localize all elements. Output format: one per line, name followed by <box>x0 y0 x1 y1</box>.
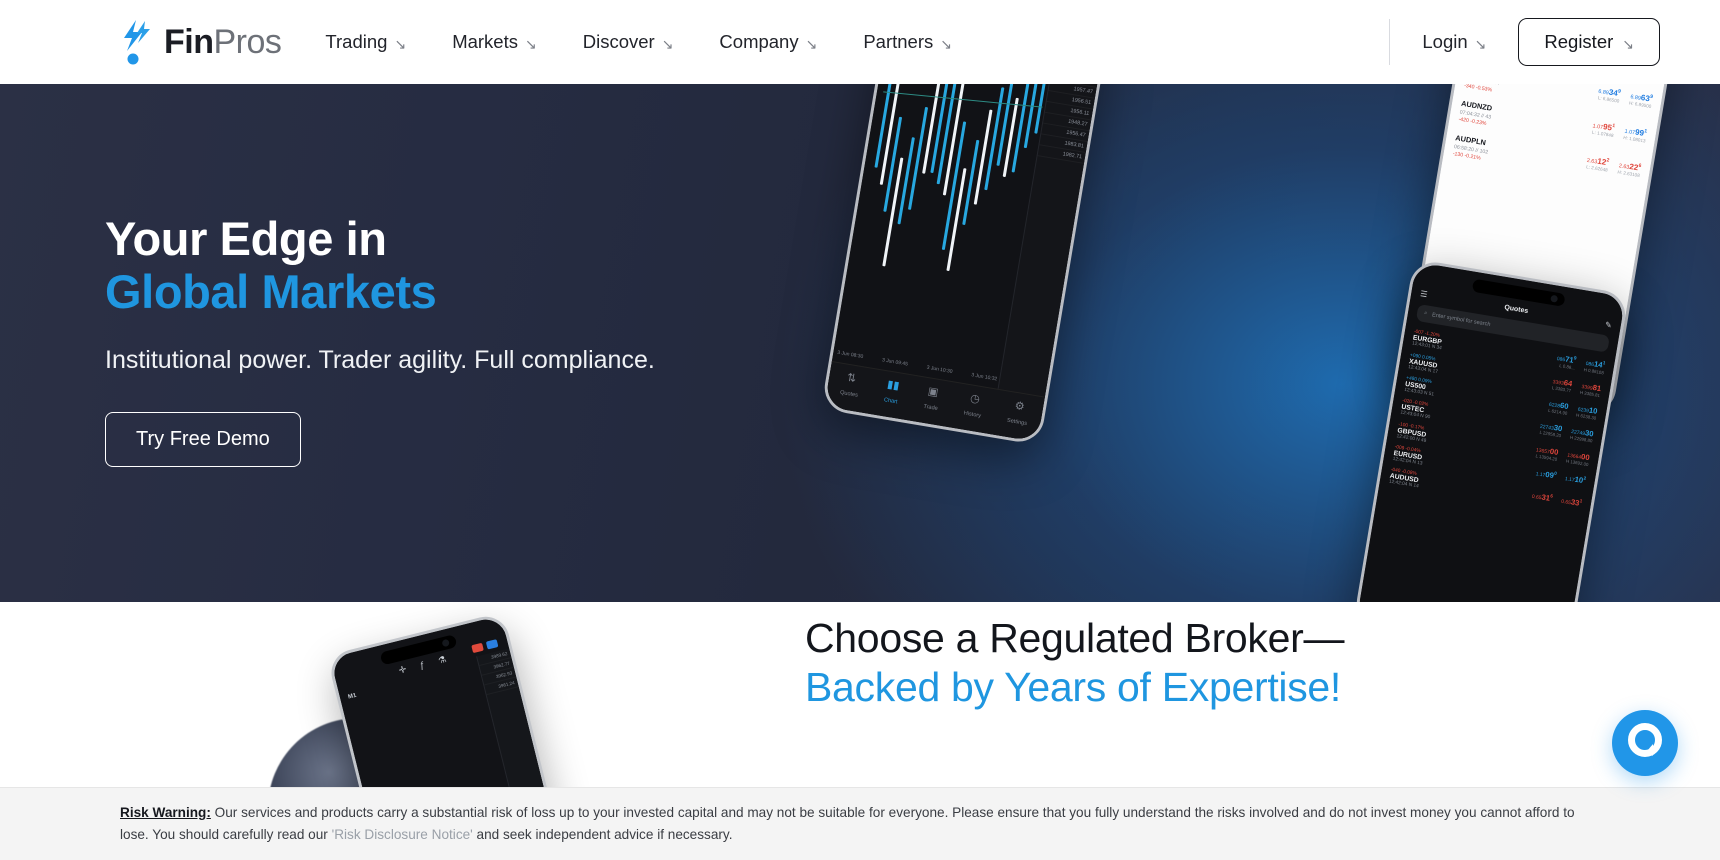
header-actions: Login ↘ Register ↘ <box>1389 18 1690 66</box>
quote-bid: 2.63122 L: 2.62648 <box>1585 155 1609 173</box>
quote-ask: 1.17102 <box>1564 474 1586 486</box>
tab-label: Chart <box>883 397 897 405</box>
hero-headline-line2: Global Markets <box>105 265 825 318</box>
quotes-icon: ⇅ <box>841 367 862 391</box>
chevron-down-icon: ↘ <box>806 37 818 51</box>
quote-prices: 622860 L 6214.90 623910 H 6238.30 <box>1548 400 1598 421</box>
nav-item-company[interactable]: Company ↘ <box>719 31 817 53</box>
quote-bid: 6.89349 L: 6.86500 <box>1597 87 1621 105</box>
header-divider <box>1389 19 1390 65</box>
site-logo[interactable]: FinPros <box>120 18 281 66</box>
price-pip: 1 <box>1612 123 1616 129</box>
register-label: Register <box>1544 31 1613 53</box>
quote-price: 0.65331 <box>1561 497 1583 509</box>
risk-warning-tail: and seek independent advice if necessary… <box>473 827 733 842</box>
settings-icon: ⚙ <box>1008 395 1031 419</box>
hero-headline-line1: Your Edge in <box>105 212 387 265</box>
quote-prices: 086719 L 0.86... 086141 H 0.86108 <box>1555 354 1605 375</box>
quote-bid: 0.65316 <box>1531 492 1553 504</box>
quote-ask: 1366400 H 13692.00 <box>1566 450 1591 467</box>
quote-ask: 339981 H 3385.81 <box>1580 381 1602 397</box>
nav-item-trading[interactable]: Trading ↘ <box>325 31 406 53</box>
tab-label: Trade <box>923 403 938 411</box>
price-pip: 1 <box>1644 128 1648 134</box>
search-icon: ⌕ <box>1424 310 1428 317</box>
tab-quotes[interactable]: ⇅Quotes <box>839 367 862 401</box>
timeframe-label: M1 <box>348 693 358 701</box>
section2-copy: Choose a Regulated Broker—Backed by Year… <box>805 614 1365 712</box>
function-icon[interactable]: ƒ <box>419 659 426 670</box>
risk-warning-label: Risk Warning: <box>120 805 211 820</box>
quote-info: +090 0.05% XAUUSD 12:43:04 N 17 <box>1408 353 1441 375</box>
price-pip: 9 <box>1618 89 1622 95</box>
quote-price: 0.65316 <box>1531 492 1553 504</box>
quote-ask: 623910 H 6238.30 <box>1576 405 1598 421</box>
quote-prices: 2.63122 L: 2.62648 2.63226 H: 2.63108 <box>1585 155 1641 178</box>
history-icon: ◷ <box>965 388 986 411</box>
phone-mockup-chart: 1983.87 1981.72 1980.37 1959.63 1958.47 … <box>821 84 1109 445</box>
price-pip: 9 <box>1574 356 1577 361</box>
crosshair-icon[interactable]: ✛ <box>398 663 408 675</box>
lightning-bolt-icon <box>120 18 154 66</box>
chevron-down-icon: ↘ <box>394 37 406 51</box>
price-pip: 2 <box>1583 476 1586 481</box>
menu-icon[interactable]: ☰ <box>1420 289 1429 299</box>
quote-info: -040 -0.08% AUDUSD 12:42:04 N 14 <box>1388 468 1421 490</box>
price-pip: 1 <box>1602 360 1605 365</box>
quote-prices: 1.07951 L: 1.07848 1.07991 H: 1.08013 <box>1591 121 1647 144</box>
login-label: Login <box>1422 31 1467 53</box>
quote-bid: 1.17090 <box>1535 469 1557 481</box>
chevron-down-icon: ↘ <box>1622 37 1634 51</box>
register-button[interactable]: Register ↘ <box>1518 18 1660 66</box>
quote-info: AUDNZD 07:04:32 // 43 -420 -0.23% <box>1458 99 1494 130</box>
quote-bid: 1365700 L 13594.20 <box>1535 445 1559 462</box>
quote-ask: 086141 H 0.86108 <box>1583 358 1605 375</box>
tab-label: History <box>963 410 981 419</box>
trade-icon: ▣ <box>924 381 942 404</box>
quote-bid: 2274330 L 22958.20 <box>1539 422 1563 439</box>
hero-subheadline: Institutional power. Trader agility. Ful… <box>105 344 825 378</box>
chart-icon: ▮▮ <box>885 374 902 397</box>
search-placeholder: Enter symbol for search <box>1432 312 1491 328</box>
nav-label: Markets <box>452 31 518 53</box>
quote-info: -009 -0.04% EURUSD 12:42:04 N 13 <box>1392 445 1425 467</box>
site-header: FinPros Trading ↘ Markets ↘ Discover ↘ C… <box>0 0 1720 84</box>
quote-ask: 1.07991 H: 1.08013 <box>1623 126 1647 144</box>
try-free-demo-button[interactable]: Try Free Demo <box>105 412 301 467</box>
edit-icon[interactable]: ✎ <box>1604 320 1612 330</box>
quote-bid: 086719 L 0.86... <box>1555 354 1576 371</box>
quotes-dark-screen: ☰ Quotes ✎ ⌕ Enter symbol for search -00… <box>1356 262 1625 602</box>
tab-label: Quotes <box>840 389 859 398</box>
logo-wordmark: FinPros <box>164 25 281 59</box>
section2-heading-accent: Backed by Years of Expertise! <box>805 664 1341 710</box>
quote-info: -020 -0.02% USTEC 12:43:04 N 90 <box>1400 399 1433 421</box>
login-button[interactable]: Login ↘ <box>1422 31 1486 53</box>
quote-ask: 6.89639 H: 6.89500 <box>1629 92 1653 110</box>
nav-item-partners[interactable]: Partners ↘ <box>863 31 952 53</box>
hero-phone-mockups: 1983.87 1981.72 1980.37 1959.63 1958.47 … <box>860 84 1720 602</box>
tab-trade[interactable]: ▣Trade <box>923 381 942 414</box>
chat-bubble-icon <box>1626 722 1664 765</box>
main-navigation: Trading ↘ Markets ↘ Discover ↘ Company ↘… <box>325 31 952 53</box>
chevron-down-icon: ↘ <box>1475 37 1487 51</box>
price-pip: 6 <box>1638 163 1642 169</box>
hero-headline: Your Edge in Global Markets <box>105 212 825 318</box>
logo-text-fin: Fin <box>164 23 213 61</box>
tab-history[interactable]: ◷History <box>963 388 985 422</box>
phone-mockup-quotes-dark: ☰ Quotes ✎ ⌕ Enter symbol for search -00… <box>1353 259 1629 602</box>
quote-ask: 2.63226 H: 2.63108 <box>1617 160 1641 178</box>
quote-bid: 622860 L 6214.90 <box>1548 400 1569 416</box>
quote-ask: 2274930 H 22998.80 <box>1569 427 1594 444</box>
quote-price: 1.17102 <box>1564 474 1586 486</box>
quote-bid: 339364 L 3383.77 <box>1551 377 1572 393</box>
section2-heading-main: Choose a Regulated Broker— <box>805 615 1344 661</box>
quotes-title: Quotes <box>1504 304 1529 315</box>
nav-label: Company <box>719 31 798 53</box>
section2-heading: Choose a Regulated Broker—Backed by Year… <box>805 614 1365 712</box>
hero-section: Your Edge in Global Markets Institutiona… <box>0 84 1720 602</box>
price-pip: 1 <box>1579 499 1582 504</box>
quote-price: 1.17090 <box>1535 469 1557 481</box>
tab-settings[interactable]: ⚙Settings <box>1006 395 1031 429</box>
hero-copy: Your Edge in Global Markets Institutiona… <box>105 212 825 467</box>
chevron-down-icon: ↘ <box>525 37 537 51</box>
chart-screen: 1983.87 1981.72 1980.37 1959.63 1958.47 … <box>824 84 1105 442</box>
risk-warning-bar: Risk Warning: Our services and products … <box>0 787 1720 860</box>
logo-text-pros: Pros <box>213 23 281 61</box>
price-pip: 9 <box>1650 94 1654 100</box>
risk-warning-text: Risk Warning: Our services and products … <box>120 802 1600 846</box>
nav-item-discover[interactable]: Discover ↘ <box>583 31 674 53</box>
indicator-icon[interactable]: ⚗ <box>437 654 447 667</box>
nav-label: Trading <box>325 31 387 53</box>
tab-chart[interactable]: ▮▮Chart <box>883 374 902 407</box>
quote-info: AUDNOK 06:59:18 // 244 -340 -0.53% <box>1463 84 1501 96</box>
quote-info: AUDPLN 06:58:20 // 102 -130 -0.21% <box>1452 133 1490 164</box>
chevron-down-icon: ↘ <box>662 37 674 51</box>
quote-ask: 0.65331 <box>1561 497 1583 509</box>
price-pip: 6 <box>1550 494 1553 499</box>
price-pip: 0 <box>1554 471 1557 476</box>
price-pip: 2 <box>1606 157 1610 163</box>
quote-bid: 1.07951 L: 1.07848 <box>1591 121 1615 139</box>
tab-label: Settings <box>1007 417 1028 426</box>
quote-prices: 339364 L 3383.77 339981 H 3385.81 <box>1551 377 1601 398</box>
nav-label: Partners <box>863 31 933 53</box>
chevron-down-icon: ↘ <box>940 37 952 51</box>
risk-disclosure-link[interactable]: 'Risk Disclosure Notice' <box>332 827 473 842</box>
chat-widget-button[interactable] <box>1612 710 1678 776</box>
nav-label: Discover <box>583 31 655 53</box>
quote-info: -007 -1.20% EURGBP 12:43:01 N 34 <box>1411 330 1444 352</box>
nav-item-markets[interactable]: Markets ↘ <box>452 31 537 53</box>
quote-prices: 6.89349 L: 6.86500 6.89639 H: 6.89500 <box>1597 87 1653 110</box>
quote-info: -100 -0.17% GBPUSD 12:42:00 N 49 <box>1396 422 1429 444</box>
quote-info: +480 0.09% US500 12:43:03 N 51 <box>1404 376 1437 398</box>
